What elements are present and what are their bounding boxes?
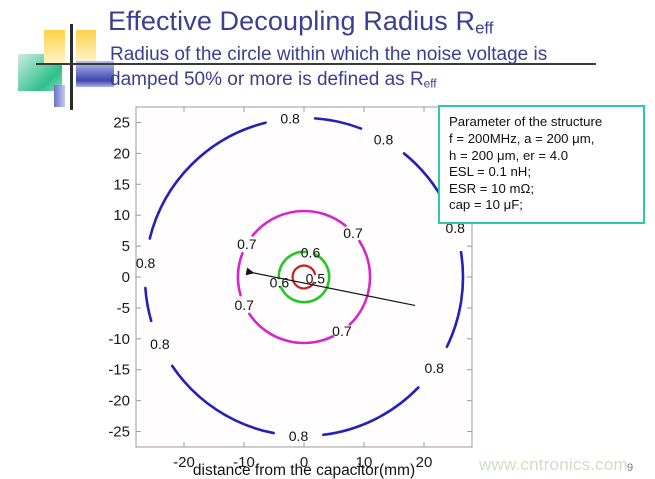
contour-label-0.7: 0.7	[332, 323, 352, 339]
page-number: 9	[627, 462, 633, 474]
page-title: Effective Decoupling Radius Reff	[108, 6, 493, 39]
y-tick-label: 25	[113, 114, 130, 131]
subtitle-line-1: Radius of the circle within which the no…	[110, 42, 630, 67]
deco-square-yellow-left	[44, 30, 65, 64]
param-line-1: f = 200MHz, a = 200 μm,	[449, 131, 635, 147]
contour-label-0.6: 0.6	[270, 275, 290, 291]
decorative-logo	[14, 28, 118, 104]
y-tick-label: 15	[113, 176, 130, 193]
plot-frame	[136, 107, 472, 447]
contour-label-0.5: 0.5	[306, 271, 326, 287]
y-tick-label: -15	[108, 362, 130, 379]
contour-label-0.8: 0.8	[150, 336, 170, 352]
y-tick-label: 0	[122, 269, 130, 286]
contour-label-0.8: 0.8	[136, 255, 156, 271]
subtitle-line-2: damped 50% or more is defined as Reff	[110, 67, 630, 97]
y-tick-label: 20	[113, 145, 130, 162]
contour-label-0.8: 0.8	[424, 360, 444, 376]
parameter-box: Parameter of the structure f = 200MHz, a…	[438, 105, 645, 224]
x-tick-label: 20	[416, 454, 433, 471]
y-tick-label: 10	[113, 207, 130, 224]
param-line-4: ESR = 10 mΩ;	[449, 181, 635, 197]
param-line-2: h = 200 μm, er = 4.0	[449, 148, 635, 164]
page-subtitle: Radius of the circle within which the no…	[110, 42, 630, 97]
y-tick-label: -10	[108, 331, 130, 348]
contour-label-0.6: 0.6	[301, 245, 321, 261]
watermark: www.cntronics.com	[479, 455, 628, 475]
deco-square-blue-small	[54, 85, 65, 107]
subtitle-line-2-text: damped 50% or more is defined as R	[110, 69, 424, 90]
x-axis-title: distance from the capacitor(mm)	[193, 462, 415, 479]
param-line-0: Parameter of the structure	[449, 114, 635, 130]
contour-label-0.7: 0.7	[237, 236, 257, 252]
contour-label-0.8: 0.8	[280, 111, 300, 127]
param-line-5: cap = 10 μF;	[449, 197, 635, 213]
contour-label-0.7: 0.7	[234, 297, 254, 313]
subtitle-subscript: eff	[424, 78, 437, 91]
y-tick-label: -25	[108, 424, 130, 441]
param-line-3: ESL = 0.1 nH;	[449, 164, 635, 180]
y-tick-label: -20	[108, 393, 130, 410]
y-tick-label: 5	[122, 238, 130, 255]
contour-label-0.7: 0.7	[343, 225, 363, 241]
y-tick-label: -5	[117, 300, 130, 317]
slide-canvas: Effective Decoupling Radius Reff Radius …	[0, 0, 655, 479]
contour-label-0.8: 0.8	[374, 131, 394, 147]
deco-vertical-rule	[70, 24, 73, 110]
y-axis-tick-labels: 2520151050-5-10-15-20-25	[108, 114, 130, 440]
page-title-subscript: eff	[475, 19, 493, 38]
page-title-text: Effective Decoupling Radius R	[108, 6, 475, 36]
x-tick-label: -20	[173, 454, 195, 471]
contour-label-0.8: 0.8	[289, 428, 309, 444]
deco-square-yellow-right	[76, 30, 96, 64]
